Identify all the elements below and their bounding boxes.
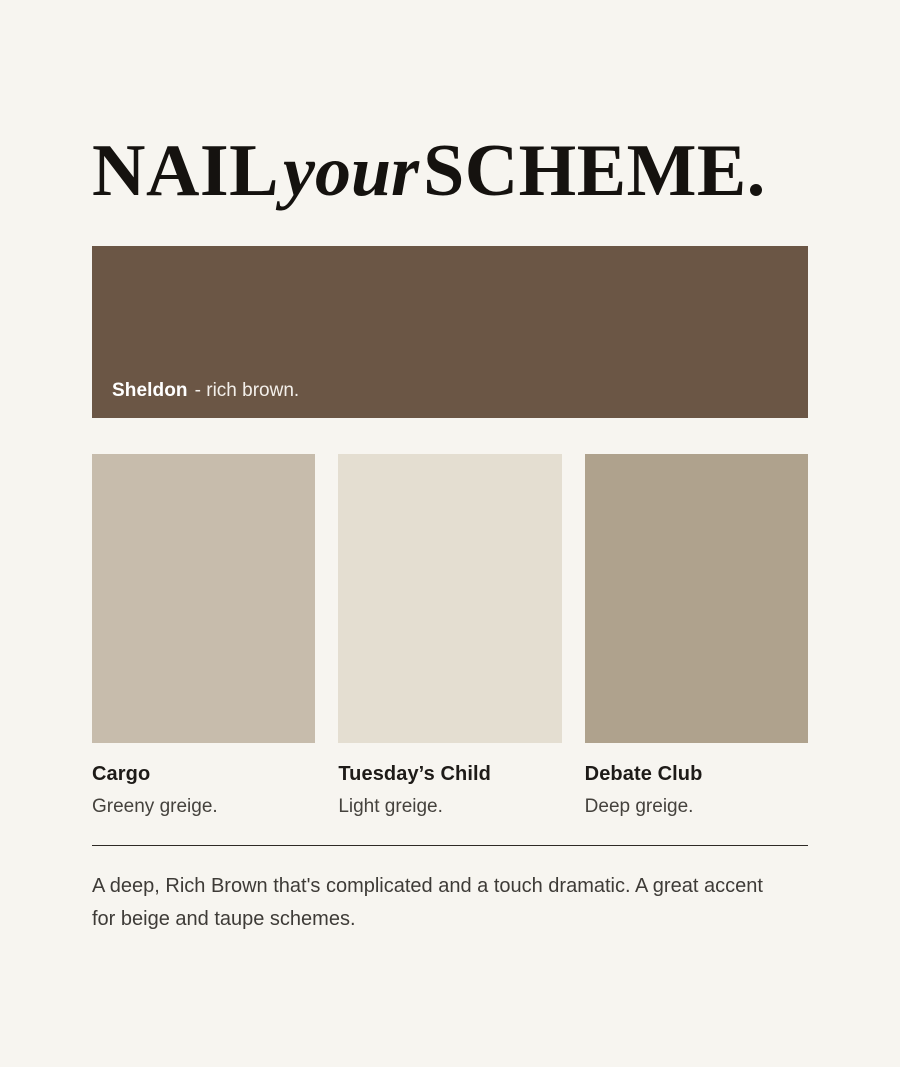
hero-color-description: - rich brown. [188,380,300,401]
page-title: NAILyourSCHEME. [92,128,852,214]
hero-label: Sheldon- rich brown. [112,378,299,404]
swatch-description: Light greige. [338,794,561,819]
swatch-description: Greeny greige. [92,794,315,819]
swatch-name: Cargo [92,761,315,787]
hero-color-name: Sheldon [112,380,188,401]
swatch-item[interactable]: Tuesday’s Child Light greige. [338,454,561,819]
color-scheme-card: NAILyourSCHEME. Sheldon- rich brown. Car… [0,0,900,1067]
swatch-row: Cargo Greeny greige. Tuesday’s Child Lig… [92,454,808,819]
swatch-name: Debate Club [585,761,808,787]
swatch-description: Deep greige. [585,794,808,819]
swatch-chip-cargo[interactable] [92,454,315,743]
title-suffix: SCHEME. [423,130,766,212]
section-divider [92,845,808,846]
title-prefix: NAIL [92,130,279,212]
swatch-chip-debate-club[interactable] [585,454,808,743]
swatch-name: Tuesday’s Child [338,761,561,787]
title-emphasis: your [279,131,423,211]
scheme-note: A deep, Rich Brown that's complicated an… [92,870,782,936]
swatch-item[interactable]: Cargo Greeny greige. [92,454,315,819]
swatch-chip-tuesdays-child[interactable] [338,454,561,743]
swatch-item[interactable]: Debate Club Deep greige. [585,454,808,819]
hero-color-banner[interactable]: Sheldon- rich brown. [92,246,808,418]
